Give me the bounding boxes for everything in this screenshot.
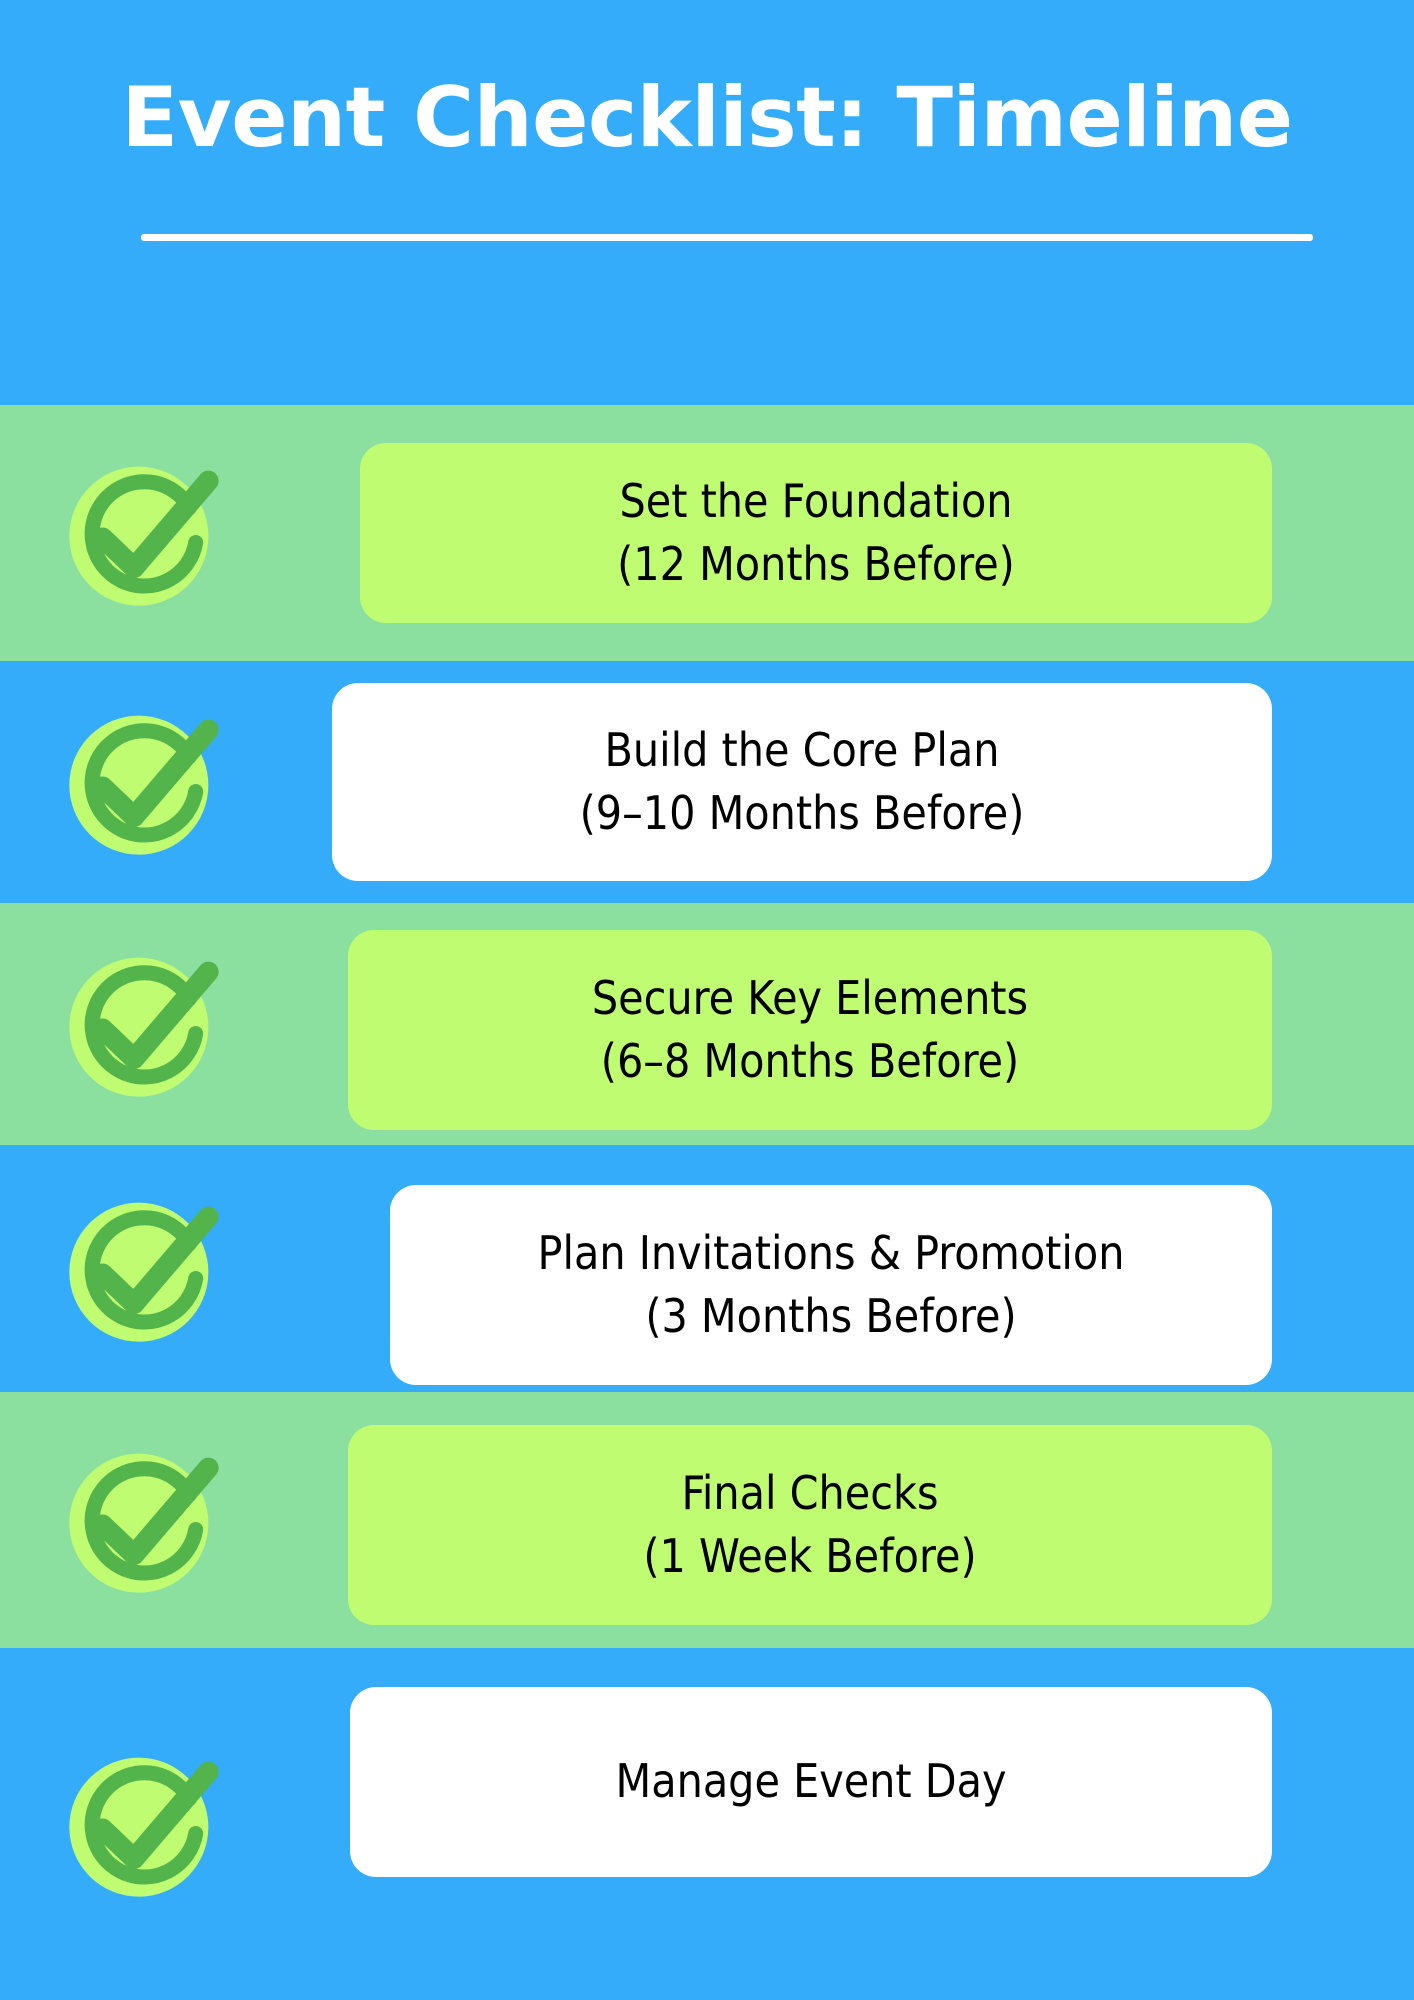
- checklist-row[interactable]: Final Checks(1 Week Before): [0, 1392, 1414, 1648]
- checklist-row[interactable]: Set the Foundation(12 Months Before): [0, 405, 1414, 661]
- step-card[interactable]: Plan Invitations & Promotion(3 Months Be…: [390, 1185, 1272, 1385]
- step-timing: (12 Months Before): [617, 533, 1015, 596]
- checklist-row[interactable]: Secure Key Elements(6–8 Months Before): [0, 903, 1414, 1145]
- check-circle-icon: [63, 454, 221, 612]
- check-circle-icon: [63, 1441, 221, 1599]
- checklist-row[interactable]: Plan Invitations & Promotion(3 Months Be…: [0, 1145, 1414, 1392]
- step-title: Build the Core Plan: [605, 719, 1000, 782]
- check-circle-icon: [63, 945, 221, 1103]
- check-circle-icon: [63, 1190, 221, 1348]
- step-card[interactable]: Secure Key Elements(6–8 Months Before): [348, 930, 1272, 1130]
- step-title: Plan Invitations & Promotion: [538, 1222, 1125, 1285]
- step-timing: (3 Months Before): [645, 1285, 1016, 1348]
- step-timing: (1 Week Before): [643, 1525, 976, 1588]
- step-card[interactable]: Build the Core Plan(9–10 Months Before): [332, 683, 1272, 881]
- step-card[interactable]: Set the Foundation(12 Months Before): [360, 443, 1272, 623]
- step-title: Final Checks: [681, 1462, 938, 1525]
- step-card[interactable]: Final Checks(1 Week Before): [348, 1425, 1272, 1625]
- step-title: Secure Key Elements: [592, 967, 1028, 1030]
- step-title: Set the Foundation: [619, 470, 1012, 533]
- check-circle-icon: [63, 1745, 221, 1903]
- check-circle-icon: [63, 703, 221, 861]
- checklist-row[interactable]: Build the Core Plan(9–10 Months Before): [0, 661, 1414, 903]
- event-checklist-poster: Event Checklist: Timeline Set the Founda…: [0, 0, 1414, 2000]
- step-timing: (6–8 Months Before): [601, 1030, 1019, 1093]
- page-title: Event Checklist: Timeline: [0, 74, 1414, 161]
- step-card[interactable]: Manage Event Day: [350, 1687, 1272, 1877]
- title-divider: [141, 234, 1313, 241]
- checklist-row[interactable]: Manage Event Day: [0, 1648, 1414, 2000]
- step-title: Manage Event Day: [616, 1750, 1007, 1813]
- poster-header: Event Checklist: Timeline: [0, 0, 1414, 405]
- step-timing: (9–10 Months Before): [580, 782, 1025, 845]
